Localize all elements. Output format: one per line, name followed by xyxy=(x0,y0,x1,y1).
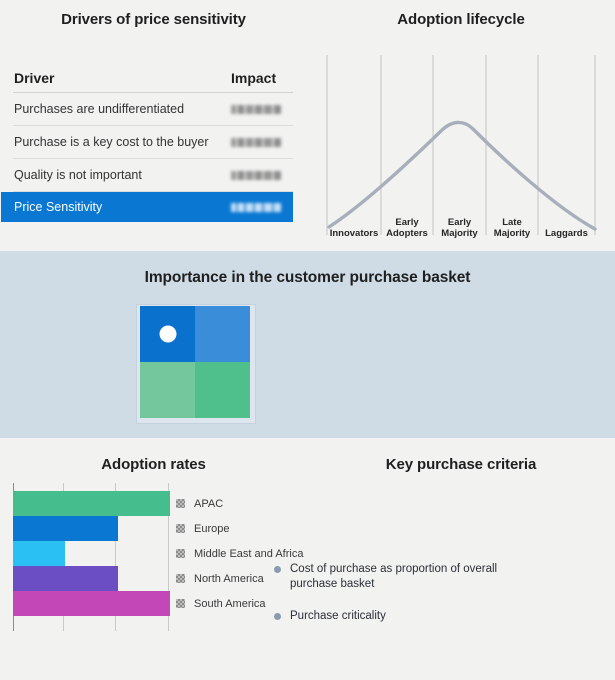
matrix-quadrant-bottom-right[interactable] xyxy=(195,362,250,418)
bar-row xyxy=(13,516,170,541)
bar-row xyxy=(13,491,170,516)
legend-item-label: South America xyxy=(194,598,266,610)
table-row[interactable]: Quality is not important Medium xyxy=(13,159,293,192)
impact-cell: Medium xyxy=(231,135,293,149)
adoption-rates-plot xyxy=(13,483,170,631)
importance-matrix xyxy=(140,306,250,418)
adoption-rates-panel: Adoption rates xyxy=(0,438,307,680)
table-row[interactable]: Purchases are undifferentiated Medium xyxy=(13,93,293,126)
drivers-panel-title: Drivers of price sensitivity xyxy=(0,11,307,28)
bar-north-america[interactable] xyxy=(13,566,118,591)
infographic-page: Drivers of price sensitivity Driver Impa… xyxy=(0,0,615,680)
basket-panel-title: Importance in the customer purchase bask… xyxy=(0,269,615,287)
lifecycle-stage-labels: Innovators Early Adopters Early Majority… xyxy=(323,215,603,239)
key-purchase-criteria-panel: Key purchase criteria xyxy=(307,438,615,680)
basket-panel: Importance in the customer purchase bask… xyxy=(0,251,615,438)
legend-item[interactable]: South America xyxy=(176,591,301,616)
lifecycle-curve-svg xyxy=(323,55,603,235)
column-header-driver: Driver xyxy=(13,70,231,86)
driver-cell: Price Sensitivity xyxy=(13,200,231,214)
matrix-quadrant-bottom-left[interactable] xyxy=(140,362,195,418)
driver-cell: Quality is not important xyxy=(13,168,231,182)
table-row[interactable]: Purchase is a key cost to the buyer Medi… xyxy=(13,126,293,159)
legend-item-label: Middle East and Africa xyxy=(194,548,303,560)
table-row-selected[interactable]: Price Sensitivity Medium xyxy=(1,192,293,222)
legend-swatch-icon xyxy=(176,499,185,508)
lifecycle-gridlines xyxy=(327,55,595,235)
bar-europe[interactable] xyxy=(13,516,118,541)
legend-swatch-icon xyxy=(176,599,185,608)
lifecycle-panel-title: Adoption lifecycle xyxy=(307,11,615,28)
adoption-rates-title: Adoption rates xyxy=(0,456,307,473)
bar-middle-east-and-africa[interactable] xyxy=(13,541,65,566)
table-header-row: Driver Impact xyxy=(13,64,293,93)
legend-item[interactable]: Middle East and Africa xyxy=(176,541,301,566)
column-header-impact: Impact xyxy=(231,70,293,86)
legend-item-label: North America xyxy=(194,573,264,585)
lifecycle-stage-early-adopters: Early Adopters xyxy=(381,217,433,239)
lifecycle-panel: Adoption lifecycle Innovators Early Adop… xyxy=(307,0,615,251)
matrix-quadrant-top-left[interactable] xyxy=(140,306,195,362)
drivers-table: Driver Impact Purchases are undifferenti… xyxy=(13,64,293,222)
impact-cell: Medium xyxy=(231,200,293,214)
lifecycle-stage-late-majority: Late Majority xyxy=(486,217,538,239)
impact-value-redacted: Medium xyxy=(231,171,281,180)
lifecycle-chart xyxy=(323,55,603,235)
legend-swatch-icon xyxy=(176,524,185,533)
adoption-bell-curve xyxy=(329,122,595,229)
legend-item-label: Europe xyxy=(194,523,229,535)
legend-item[interactable]: North America xyxy=(176,566,301,591)
impact-value-redacted: Medium xyxy=(231,138,281,147)
lifecycle-stage-laggards: Laggards xyxy=(538,228,595,239)
impact-cell: Medium xyxy=(231,102,293,116)
bar-row xyxy=(13,566,170,591)
legend-swatch-icon xyxy=(176,574,185,583)
legend-item-label: APAC xyxy=(194,498,223,510)
key-purchase-criteria-title: Key purchase criteria xyxy=(307,456,615,473)
impact-value-redacted: Medium xyxy=(231,203,281,212)
lifecycle-stage-early-majority: Early Majority xyxy=(433,217,486,239)
bar-apac[interactable] xyxy=(13,491,170,516)
impact-value-redacted: Medium xyxy=(231,105,281,114)
bar-row xyxy=(13,541,170,566)
legend-item[interactable]: APAC xyxy=(176,491,301,516)
adoption-rates-bars xyxy=(13,491,170,623)
legend-item[interactable]: Europe xyxy=(176,516,301,541)
bar-row xyxy=(13,591,170,616)
matrix-position-marker xyxy=(159,326,176,343)
adoption-rates-legend: APAC Europe Middle East and Africa North… xyxy=(176,491,301,616)
lifecycle-stage-innovators: Innovators xyxy=(327,228,381,239)
matrix-quadrant-top-right[interactable] xyxy=(195,306,250,362)
legend-swatch-icon xyxy=(176,549,185,558)
driver-cell: Purchase is a key cost to the buyer xyxy=(13,135,231,149)
drivers-panel: Drivers of price sensitivity Driver Impa… xyxy=(0,0,307,251)
bar-south-america[interactable] xyxy=(13,591,170,616)
impact-cell: Medium xyxy=(231,168,293,182)
driver-cell: Purchases are undifferentiated xyxy=(13,102,231,116)
